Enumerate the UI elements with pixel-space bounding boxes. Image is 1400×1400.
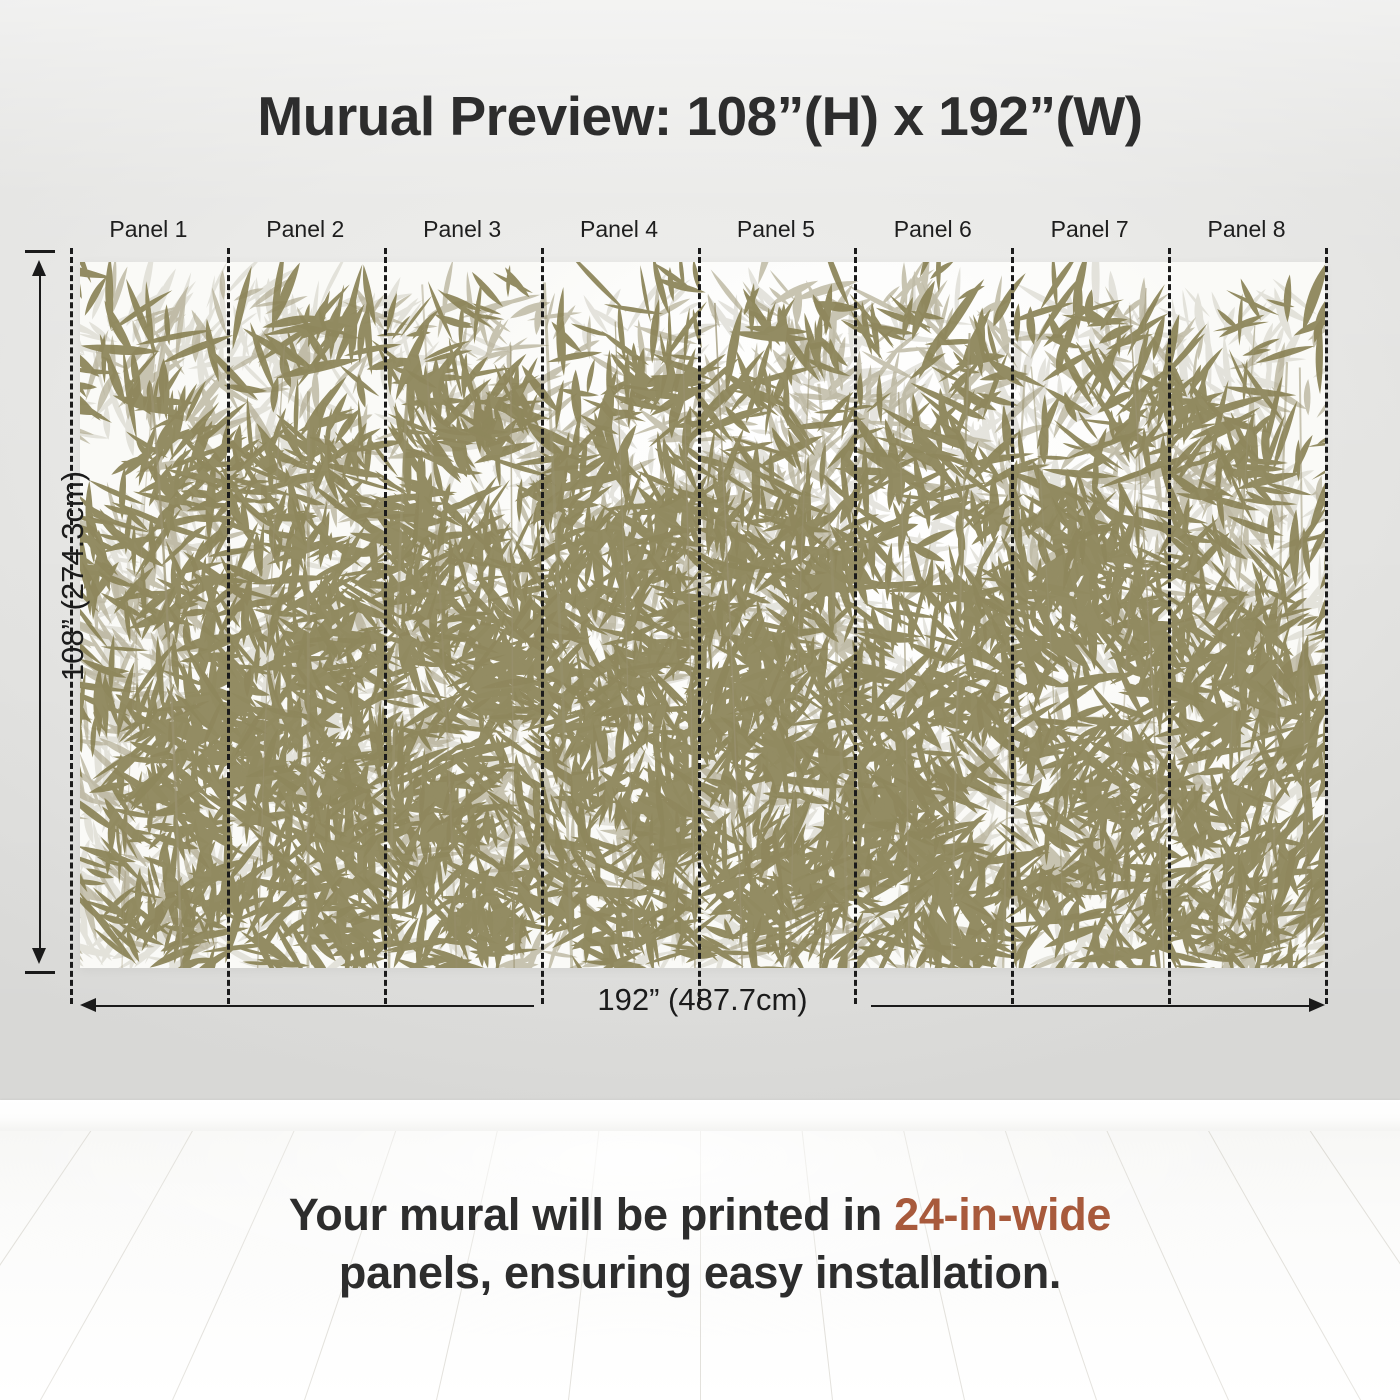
mural-artwork-preview — [80, 262, 1325, 968]
panel-divider — [854, 248, 857, 1004]
height-tick-top — [25, 250, 55, 253]
panel-label-1: Panel 1 — [109, 216, 187, 243]
footer-caption: Your mural will be printed in 24-in-wide… — [0, 1186, 1400, 1301]
panel-divider — [384, 248, 387, 1004]
caption-accent-text: 24-in-wide — [894, 1189, 1111, 1240]
page-title: Murual Preview: 108”(H) x 192”(W) — [0, 84, 1400, 148]
baseboard — [0, 1100, 1400, 1132]
panel-label-4: Panel 4 — [580, 216, 658, 243]
mural-preview-page: Murual Preview: 108”(H) x 192”(W) Panel … — [0, 0, 1400, 1400]
panel-label-2: Panel 2 — [266, 216, 344, 243]
panel-divider — [227, 248, 230, 1004]
caption-text-before: Your mural will be printed in — [289, 1189, 894, 1240]
bamboo-illustration — [80, 262, 1325, 968]
width-arrow-line-right — [871, 1005, 1309, 1007]
panel-label-7: Panel 7 — [1051, 216, 1129, 243]
width-dimension-label: 192” (487.7cm) — [80, 982, 1325, 1018]
panel-label-3: Panel 3 — [423, 216, 501, 243]
panel-label-5: Panel 5 — [737, 216, 815, 243]
height-arrowhead-down — [32, 948, 46, 964]
width-dimension-arrow: 192” (487.7cm) — [80, 1004, 1325, 1008]
height-tick-bottom — [25, 971, 55, 974]
width-arrowhead-right — [1309, 998, 1325, 1012]
height-dimension-label: 108” (274.3cm) — [55, 366, 91, 786]
height-dimension-arrow: 108” (274.3cm) — [38, 258, 42, 966]
caption-line-2: panels, ensuring easy installation. — [0, 1244, 1400, 1302]
panel-label-6: Panel 6 — [894, 216, 972, 243]
caption-line-1: Your mural will be printed in 24-in-wide — [0, 1186, 1400, 1244]
panel-label-8: Panel 8 — [1208, 216, 1286, 243]
panel-divider — [1325, 248, 1328, 1004]
panel-divider — [541, 248, 544, 1004]
panel-divider — [1011, 248, 1014, 1004]
panel-divider — [1168, 248, 1171, 1004]
height-arrow-line — [39, 272, 41, 952]
panel-divider — [698, 248, 701, 1004]
